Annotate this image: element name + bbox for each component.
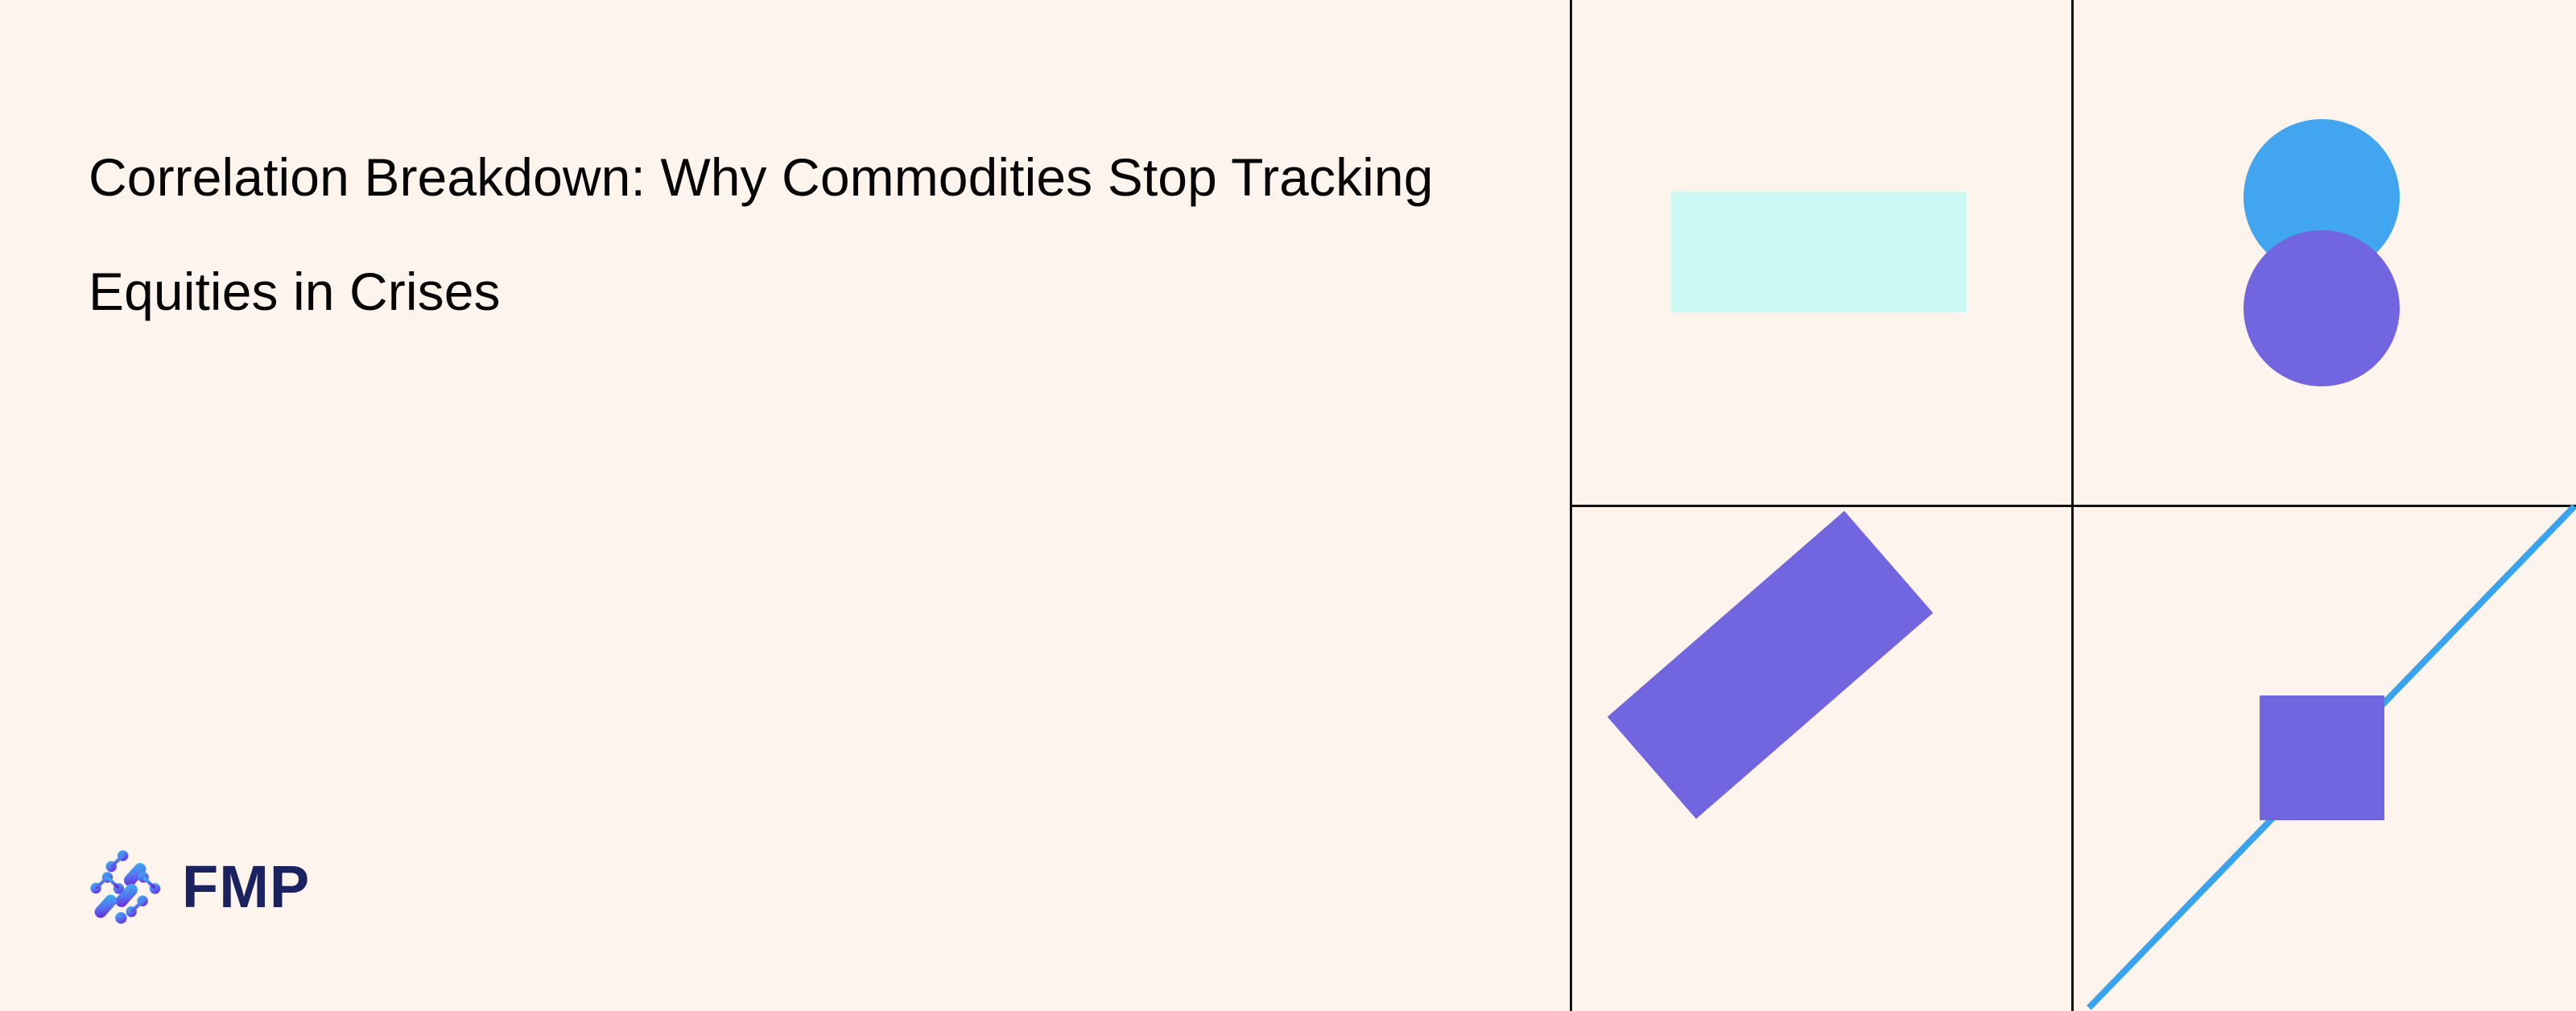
fmp-wordmark: FMP — [182, 857, 310, 917]
page-title: Correlation Breakdown: Why Commodities S… — [89, 120, 1457, 349]
left-content-panel: Correlation Breakdown: Why Commodities S… — [0, 0, 1570, 1011]
fmp-logo[interactable]: FMP — [87, 837, 310, 934]
cover-canvas: Correlation Breakdown: Why Commodities S… — [0, 0, 2576, 1011]
mint-rectangle — [1671, 192, 1967, 312]
purple-square — [2260, 695, 2384, 820]
fmp-network-diamond-icon — [87, 847, 164, 924]
rotated-purple-rectangle — [1608, 511, 1934, 819]
decorative-grid-panel — [1570, 0, 2576, 1011]
purple-circle — [2244, 230, 2400, 386]
